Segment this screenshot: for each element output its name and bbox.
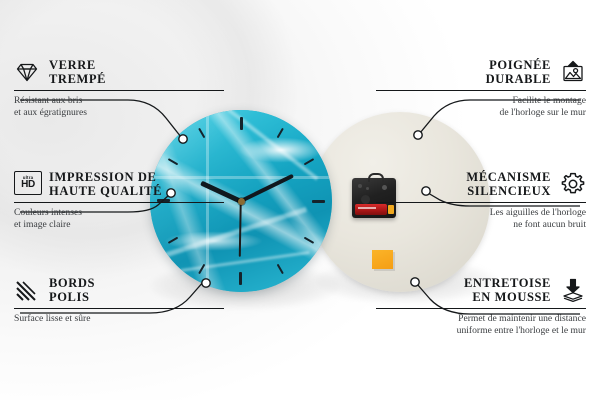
arrow-down-stack-icon (560, 277, 586, 303)
feature-divider (14, 308, 224, 309)
feature-header: VERRE TREMPÉ (14, 58, 224, 86)
feature-subtitle: Surface lisse et sûre (14, 313, 224, 325)
feature-header: MÉCANISME SILENCIEUX (376, 170, 586, 198)
feature-bords-polis[interactable]: BORDS POLIS Surface lisse et sûre (14, 276, 224, 325)
feature-subtitle: Permet de maintenir une distance uniform… (376, 313, 586, 336)
feature-header: ENTRETOISE EN MOUSSE (376, 276, 586, 304)
ultra-hd-icon: ultra HD (14, 171, 40, 197)
feature-subtitle: Résistant aux bris et aux égratignures (14, 95, 224, 118)
feature-verre-trempe[interactable]: VERRE TREMPÉ Résistant aux bris et aux é… (14, 58, 224, 119)
feature-divider (376, 308, 586, 309)
feature-mecanisme-silencieux[interactable]: MÉCANISME SILENCIEUX Les aiguilles de l'… (376, 170, 586, 231)
feature-entretoise-en-mousse[interactable]: ENTRETOISE EN MOUSSE Permet de maintenir… (376, 276, 586, 337)
feature-title: MÉCANISME SILENCIEUX (466, 170, 551, 198)
feature-title: POIGNÉE DURABLE (486, 58, 551, 86)
feature-header: POIGNÉE DURABLE (376, 58, 586, 86)
hanging-frame-icon (560, 59, 586, 85)
feature-header: ultra HD IMPRESSION DE HAUTE QUALITÉ (14, 170, 224, 198)
feature-title: ENTRETOISE EN MOUSSE (464, 276, 551, 304)
feature-title: VERRE TREMPÉ (49, 58, 106, 86)
feature-divider (376, 202, 586, 203)
feature-subtitle: Couleurs intenses et image claire (14, 207, 224, 230)
feature-title: IMPRESSION DE HAUTE QUALITÉ (49, 170, 162, 198)
leader-dot-poignee (414, 131, 422, 139)
leader-dot-verre-trempe (179, 135, 187, 143)
feature-impression-haute-qualite[interactable]: ultra HD IMPRESSION DE HAUTE QUALITÉ Cou… (14, 170, 224, 231)
gear-icon (560, 171, 586, 197)
diamond-icon (14, 59, 40, 85)
infographic-canvas: VERRE TREMPÉ Résistant aux bris et aux é… (0, 0, 600, 400)
feature-divider (14, 202, 224, 203)
feature-poignee-durable[interactable]: POIGNÉE DURABLE Facilite le montage de l… (376, 58, 586, 119)
feature-header: BORDS POLIS (14, 276, 224, 304)
feature-divider (376, 90, 586, 91)
feature-divider (14, 90, 224, 91)
diagonal-lines-icon (14, 277, 40, 303)
feature-subtitle: Les aiguilles de l'horloge ne font aucun… (376, 207, 586, 230)
feature-title: BORDS POLIS (49, 276, 95, 304)
feature-subtitle: Facilite le montage de l'horloge sur le … (376, 95, 586, 118)
